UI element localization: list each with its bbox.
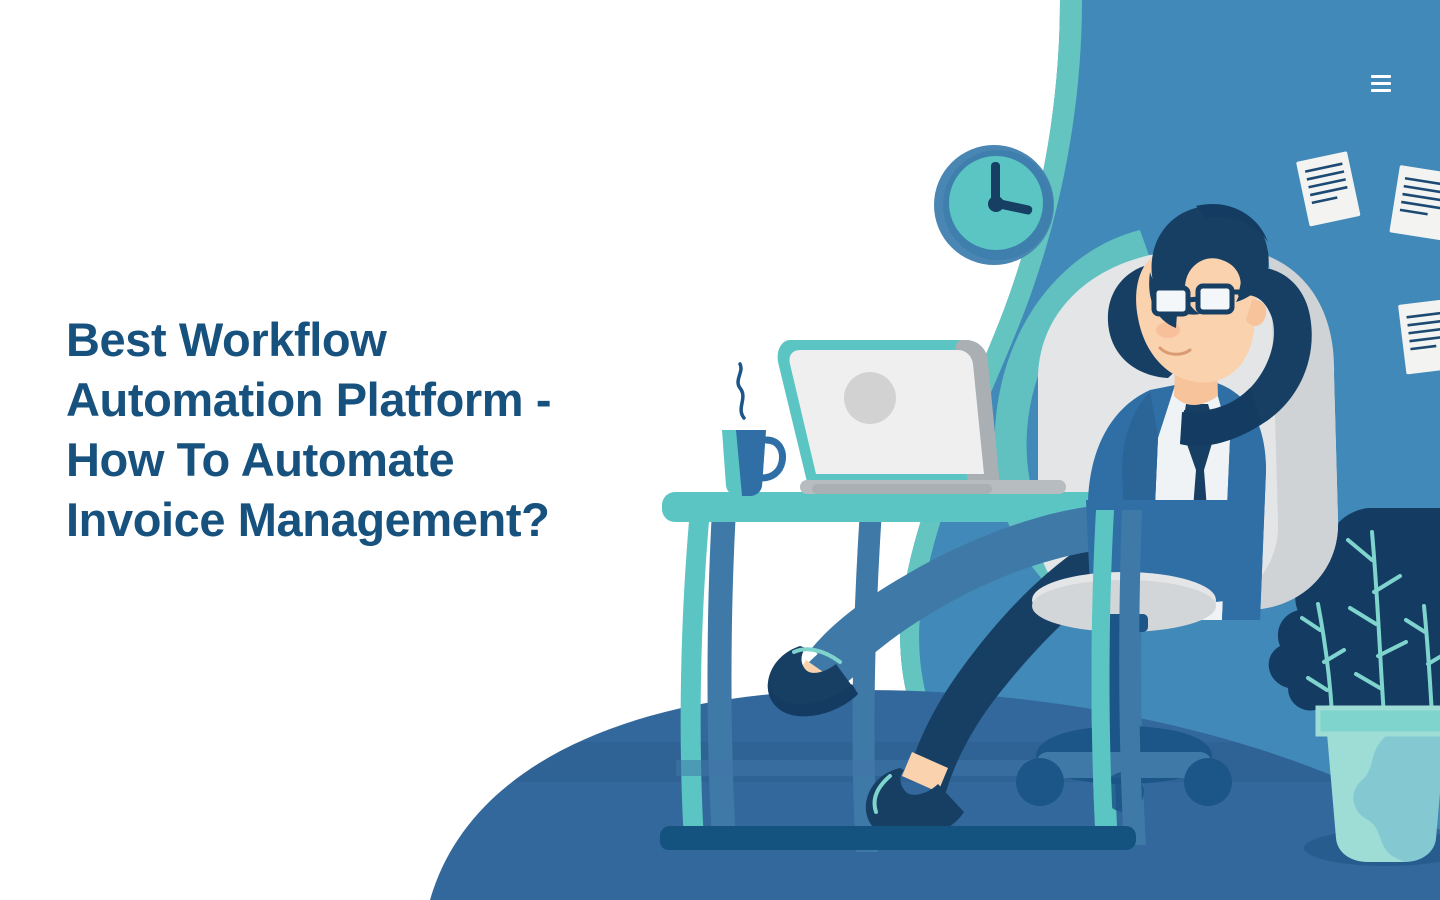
menu-bar-top (1371, 75, 1391, 78)
menu-bar-bottom (1371, 89, 1391, 92)
wall-clock (934, 145, 1054, 265)
menu-bar-middle (1371, 82, 1391, 85)
coffee-mug (722, 364, 782, 496)
page-title: Best Workflow Automation Platform - How … (66, 310, 666, 551)
hamburger-menu-icon[interactable] (1366, 68, 1396, 98)
hero-banner: Best Workflow Automation Platform - How … (0, 0, 1440, 900)
